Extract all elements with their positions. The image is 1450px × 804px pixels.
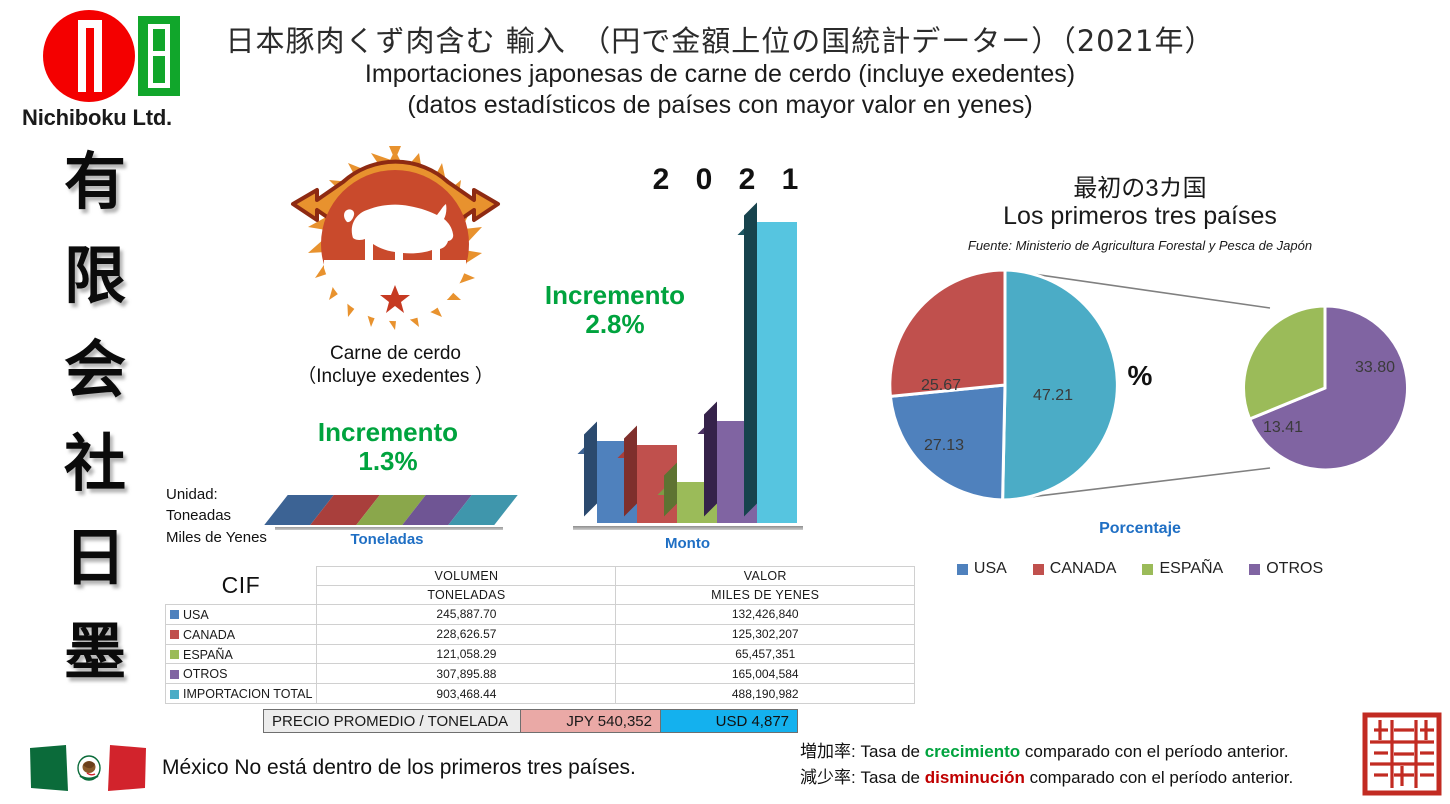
toneladas-axis-label: Toneladas <box>262 531 512 548</box>
legend-label-usa: USA <box>974 560 1007 578</box>
row-valor-total: 488,190,982 <box>616 684 915 704</box>
row-valor-canada: 125,302,207 <box>616 624 915 644</box>
table-header-miles-yenes: MILES DE YENES <box>616 586 915 605</box>
pie-axis-label: Porcentaje <box>840 520 1440 538</box>
kanji-char-4: 社 <box>40 432 150 526</box>
price-label: PRECIO PROMEDIO / TONELADA <box>263 709 521 733</box>
badge-caption-line1: Carne de cerdo <box>283 342 508 365</box>
row-volumen-total: 903,468.44 <box>317 684 616 704</box>
row-swatch-usa <box>170 610 179 619</box>
legend-label-otros: OTROS <box>1266 560 1323 578</box>
row-swatch-otros <box>170 670 179 679</box>
table-header-volumen: VOLUMEN <box>317 567 616 586</box>
footnote-decrease-prefix: 減少率: Tasa de <box>800 768 925 787</box>
legend-item-otros[interactable]: OTROS <box>1249 560 1323 578</box>
toneladas-chart: Toneladas <box>262 495 512 550</box>
table-row: CANADA 228,626.57 125,302,207 <box>166 624 915 644</box>
row-label-otros: OTROS <box>183 667 227 681</box>
monto-axis <box>573 526 803 530</box>
row-label-canada: CANADA <box>183 628 235 642</box>
toneladas-bars <box>262 495 512 525</box>
pie-label-split: 47.21 <box>1033 387 1073 404</box>
kanji-char-1: 有 <box>40 150 150 244</box>
row-swatch-canada <box>170 630 179 639</box>
pie-legend: USA CANADA ESPAÑA OTROS <box>840 560 1440 578</box>
monto-bar-total <box>757 222 797 523</box>
legend-swatch-otros <box>1249 564 1260 575</box>
footnote-increase-accent: crecimiento <box>925 742 1020 761</box>
pie-label-usa: 27.13 <box>924 437 964 454</box>
row-swatch-espana <box>170 650 179 659</box>
japanese-seal-icon <box>1362 712 1442 796</box>
row-label-total: IMPORTACION TOTAL <box>183 687 312 701</box>
kanji-char-5: 日 <box>40 526 150 620</box>
table-row: ESPAÑA 121,058.29 65,457,351 <box>166 644 915 664</box>
pie-of-pie-chart: 最初の3カ国 Los primeros tres países Fuente: … <box>840 160 1440 590</box>
kanji-char-2: 限 <box>40 244 150 338</box>
legend-swatch-canada <box>1033 564 1044 575</box>
monto-bars <box>575 193 800 523</box>
row-valor-usa: 132,426,840 <box>616 605 915 625</box>
increment-toneladas: Incremento 1.3% <box>268 418 508 476</box>
percent-symbol: % <box>1095 360 1185 392</box>
legend-swatch-espana <box>1142 564 1153 575</box>
company-kanji-vertical: 有 限 会 社 日 墨 <box>40 150 150 714</box>
row-valor-otros: 165,004,584 <box>616 664 915 684</box>
table-row: USA 245,887.70 132,426,840 <box>166 605 915 625</box>
footnote-increase: 増加率: Tasa de crecimiento comparado con e… <box>800 739 1360 765</box>
pie-label-otros: 33.80 <box>1355 359 1395 376</box>
footnote-decrease-accent: disminución <box>925 768 1025 787</box>
increment-toneladas-label: Incremento <box>268 418 508 447</box>
mexico-note-text: México No está dentro de los primeros tr… <box>162 756 636 780</box>
monto-chart: Monto <box>565 185 810 550</box>
slide-root: Nichiboku Ltd. 有 限 会 社 日 墨 日本豚肉くず肉含む 輸入 … <box>0 0 1450 804</box>
row-volumen-canada: 228,626.57 <box>317 624 616 644</box>
title-spanish-line2: (datos estadísticos de países con mayor … <box>215 91 1225 120</box>
pie-label-canada: 25.67 <box>921 377 961 394</box>
row-valor-espana: 65,457,351 <box>616 644 915 664</box>
legend-item-usa[interactable]: USA <box>957 560 1007 578</box>
price-jpy-value: JPY 540,352 <box>521 709 661 733</box>
footnote-increase-prefix: 増加率: Tasa de <box>800 742 925 761</box>
pie-title-japanese: 最初の3カ国 <box>840 168 1440 203</box>
row-volumen-usa: 245,887.70 <box>317 605 616 625</box>
company-name: Nichiboku Ltd. <box>22 105 198 131</box>
logo-letter-b <box>138 16 180 96</box>
table-corner-label: CIF <box>170 572 313 599</box>
legend-label-espana: ESPAÑA <box>1159 560 1223 578</box>
table-header-valor: VALOR <box>616 567 915 586</box>
table-row: IMPORTACION TOTAL 903,468.44 488,190,982 <box>166 684 915 704</box>
footnote-increase-suffix: comparado con el período anterior. <box>1020 742 1288 761</box>
pie-source-note: Fuente: Ministerio de Agricultura Forest… <box>840 238 1440 253</box>
import-data-table: CIF VOLUMEN VALOR TONELADAS MILES DE YEN… <box>165 566 915 704</box>
footnote-decrease-suffix: comparado con el período anterior. <box>1025 768 1293 787</box>
monto-axis-label: Monto <box>565 535 810 552</box>
pig-badge-icon <box>283 142 508 340</box>
row-volumen-espana: 121,058.29 <box>317 644 616 664</box>
footnotes: 増加率: Tasa de crecimiento comparado con e… <box>800 739 1360 792</box>
toneladas-axis <box>275 527 503 530</box>
increment-toneladas-value: 1.3% <box>268 447 508 476</box>
pie-title-spanish: Los primeros tres países <box>840 202 1440 231</box>
company-brand: Nichiboku Ltd. <box>18 8 198 143</box>
pig-badge: Carne de cerdo （Incluye exedentes ） <box>283 142 508 387</box>
mexico-note: México No está dentro de los primeros tr… <box>28 738 668 798</box>
row-label-espana: ESPAÑA <box>183 647 233 661</box>
table-header-toneladas: TONELADAS <box>317 586 616 605</box>
legend-item-canada[interactable]: CANADA <box>1033 560 1117 578</box>
logo-letter-n <box>78 20 102 92</box>
pie-label-espana: 13.41 <box>1263 419 1303 436</box>
row-volumen-otros: 307,895.88 <box>317 664 616 684</box>
footnote-decrease: 減少率: Tasa de disminución comparado con e… <box>800 765 1360 791</box>
legend-item-espana[interactable]: ESPAÑA <box>1142 560 1223 578</box>
row-swatch-total <box>170 690 179 699</box>
badge-caption-line2: （Incluye exedentes ） <box>283 365 508 388</box>
kanji-char-6: 墨 <box>40 620 150 714</box>
legend-label-canada: CANADA <box>1050 560 1117 578</box>
row-label-usa: USA <box>183 608 209 622</box>
title-spanish-line1: Importaciones japonesas de carne de cerd… <box>215 60 1225 89</box>
table-row: OTROS 307,895.88 165,004,584 <box>166 664 915 684</box>
mexico-flag-icon <box>28 742 148 794</box>
table-header-row-1: CIF VOLUMEN VALOR <box>166 567 915 586</box>
title-japanese: 日本豚肉くず肉含む 輸入 （円で金額上位の国統計データー）（2021年） <box>215 18 1225 60</box>
average-price-strip: PRECIO PROMEDIO / TONELADA JPY 540,352 U… <box>263 709 798 733</box>
kanji-char-3: 会 <box>40 338 150 432</box>
nichiboku-logo-icon <box>18 8 183 103</box>
legend-swatch-usa <box>957 564 968 575</box>
price-usd-value: USD 4,877 <box>661 709 798 733</box>
